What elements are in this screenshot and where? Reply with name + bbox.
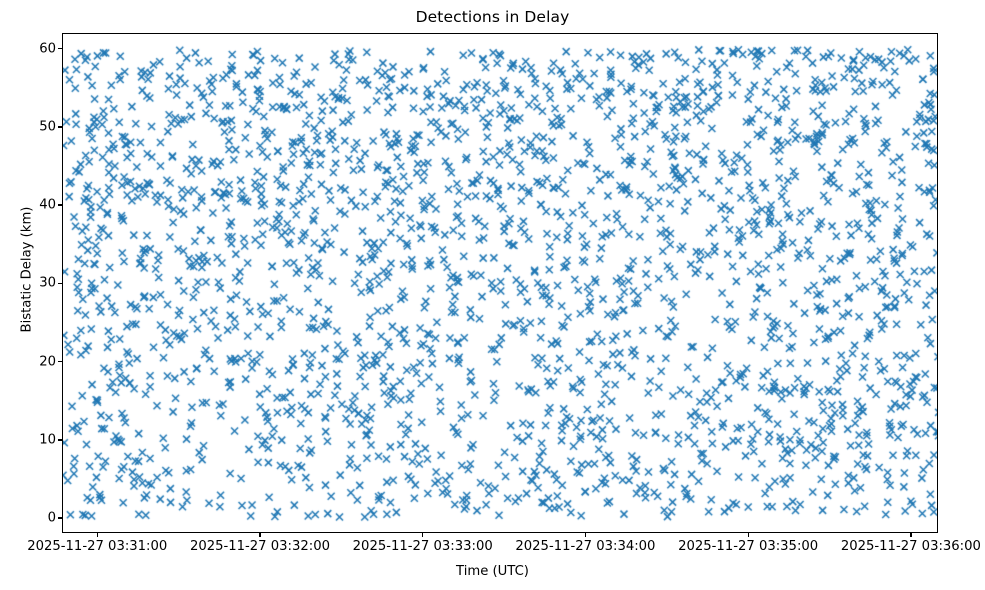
x-tick-mark [910, 533, 911, 537]
x-tick-label: 2025-11-27 03:35:00 [678, 539, 818, 554]
x-tick-label: 2025-11-27 03:33:00 [353, 539, 493, 554]
x-tick-mark [97, 533, 98, 537]
x-tick-mark [259, 533, 260, 537]
x-tick-mark [422, 533, 423, 537]
x-tick-mark [585, 533, 586, 537]
x-tick-label: 2025-11-27 03:34:00 [515, 539, 655, 554]
x-tick-label: 2025-11-27 03:31:00 [27, 539, 167, 554]
x-tick-label: 2025-11-27 03:36:00 [841, 539, 981, 554]
x-tick-label: 2025-11-27 03:32:00 [190, 539, 330, 554]
x-axis-label: Time (UTC) [0, 564, 985, 579]
chart-figure: Detections in Delay Bistatic Delay (km) … [0, 0, 985, 590]
x-axis-ticks: 2025-11-27 03:31:002025-11-27 03:32:0020… [0, 0, 985, 590]
x-tick-mark [748, 533, 749, 537]
